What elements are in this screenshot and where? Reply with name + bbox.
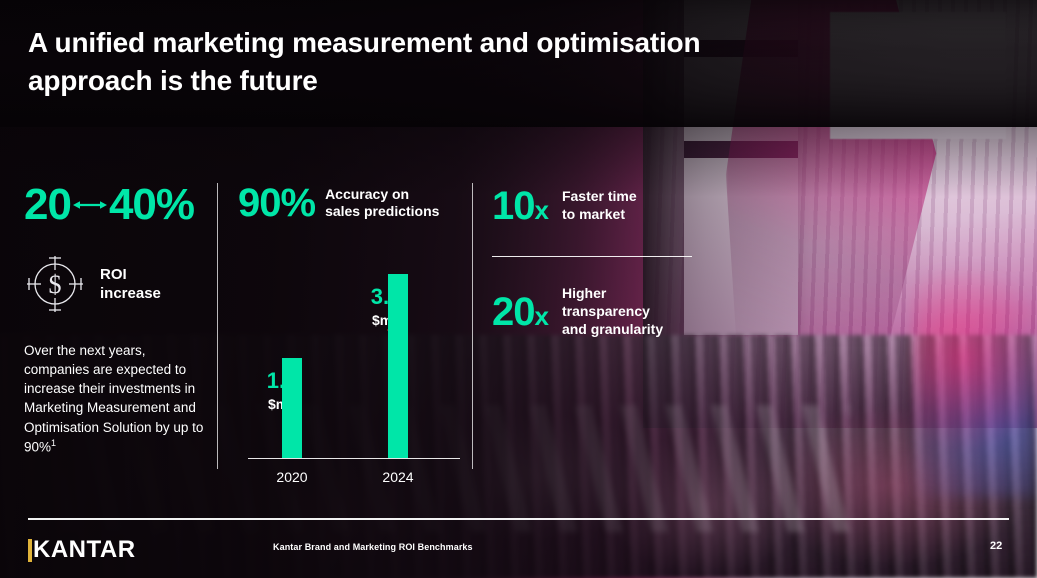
page-number: 22 [990,540,1002,552]
roi-stat-to: 40% [109,183,194,227]
roi-footnote-marker: 1 [51,438,56,448]
kpi-value-2: 20x [492,292,548,332]
kpi-higher-transparency: 20x Higher transparency and granularity [492,285,724,339]
unit-prefix-2024: $ [372,312,380,328]
column-divider-1 [217,183,218,469]
chart-baseline-axis [248,458,460,459]
kpi-caption-2-line1: Higher [562,285,606,301]
accuracy-column: 90% Accuracy on sales predictions 1.6 $m… [238,183,464,485]
kpi-caption-1: Faster time to market [562,188,637,224]
accuracy-caption-line2: sales predictions [325,203,439,219]
kpi-caption-2-line3: and granularity [562,321,663,337]
accuracy-headline: 90% Accuracy on sales predictions [238,183,464,223]
accuracy-value: 90% [238,183,315,223]
kpi-caption-1-line1: Faster time [562,188,637,204]
bar-value-2024: 3.0 $mil [341,285,431,330]
kantar-logo-accent-bar [28,539,32,562]
accuracy-caption: Accuracy on sales predictions [325,186,439,221]
kpi-caption-1-line2: to market [562,206,625,222]
roi-column: 20 40% [24,183,214,456]
kpi-value-1: 10x [492,186,548,226]
kpi-faster-time-to-market: 10x Faster time to market [492,186,724,226]
kpi-divider [492,256,692,257]
roi-body-text: Over the next years, companies are expec… [24,341,204,456]
accuracy-caption-line1: Accuracy on [325,186,409,202]
bar-value-number-2024: 3.0 [341,285,431,308]
bar-2024 [388,274,408,458]
bar-2020 [282,358,302,458]
kantar-logo-text: KANTAR [33,536,136,564]
slide: A unified marketing measurement and opti… [0,0,1037,578]
double-headed-arrow-icon [73,198,107,212]
kpi-value-suffix-2: x [535,301,548,331]
kpi-value-number-1: 10 [492,184,535,228]
roi-increase-label: ROI increase [100,265,161,304]
column-divider-2 [472,183,473,469]
kpi-caption-2-line2: transparency [562,303,650,319]
unit-prefix-2020: $ [268,396,276,412]
spend-bar-chart: 1.6 $mil 2020 3.0 $mil 2024 [238,237,464,485]
roi-icon-row: $ ROI increase [24,253,214,315]
kpi-column: 10x Faster time to market 20x Higher tra… [492,186,724,339]
footer-divider [28,518,1009,520]
kantar-logo: KANTAR [28,536,136,564]
kpi-value-suffix-1: x [535,195,548,225]
dollar-crosshair-icon: $ [24,253,86,315]
svg-text:$: $ [49,270,62,299]
roi-label-line2: increase [100,285,161,302]
kpi-caption-2: Higher transparency and granularity [562,285,663,339]
bar-label-2024: 2024 [353,469,443,485]
kpi-value-number-2: 20 [492,290,535,334]
roi-range-stat: 20 40% [24,183,214,227]
footer-caption: Kantar Brand and Marketing ROI Benchmark… [273,542,473,552]
roi-stat-from: 20 [24,183,71,227]
slide-title: A unified marketing measurement and opti… [28,24,728,100]
bar-label-2020: 2020 [247,469,337,485]
roi-label-line1: ROI [100,266,127,283]
